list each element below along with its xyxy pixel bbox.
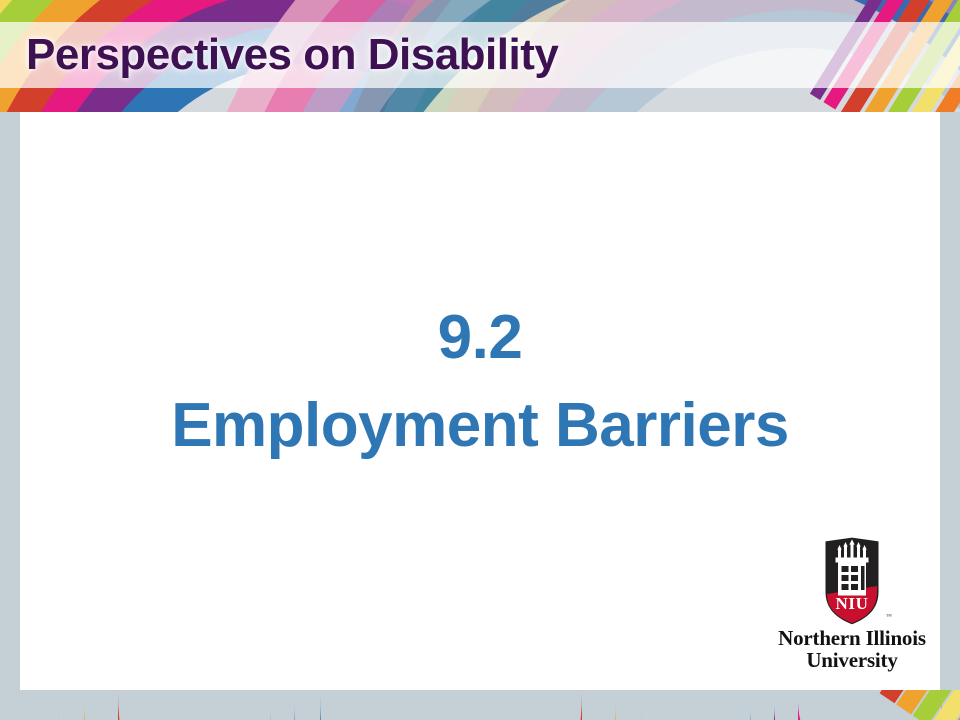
niu-wordmark: Northern Illinois University [772,628,932,672]
header-banner: Perspectives on Disability [0,0,960,112]
svg-text:NIU: NIU [836,594,869,613]
institution-line-1: Northern Illinois [772,628,932,650]
rainbow-arc-graphic-bottom [0,690,960,720]
slide: Perspectives on Disability 9.2 Employmen… [0,0,960,720]
niu-shield-icon: NIU [820,536,884,626]
page-title: 9.2 Employment Barriers [20,294,940,470]
title-number: 9.2 [438,303,523,372]
trademark-symbol: ™ [886,614,892,620]
niu-logo: NIU ™ Northern Illinois University [772,536,932,684]
footer-arc-svg [0,690,960,720]
title-heading: Employment Barriers [20,382,940,470]
content-panel: 9.2 Employment Barriers [20,112,940,690]
banner-wordmark: Perspectives on Disability [26,24,558,86]
institution-line-2: University [772,650,932,672]
